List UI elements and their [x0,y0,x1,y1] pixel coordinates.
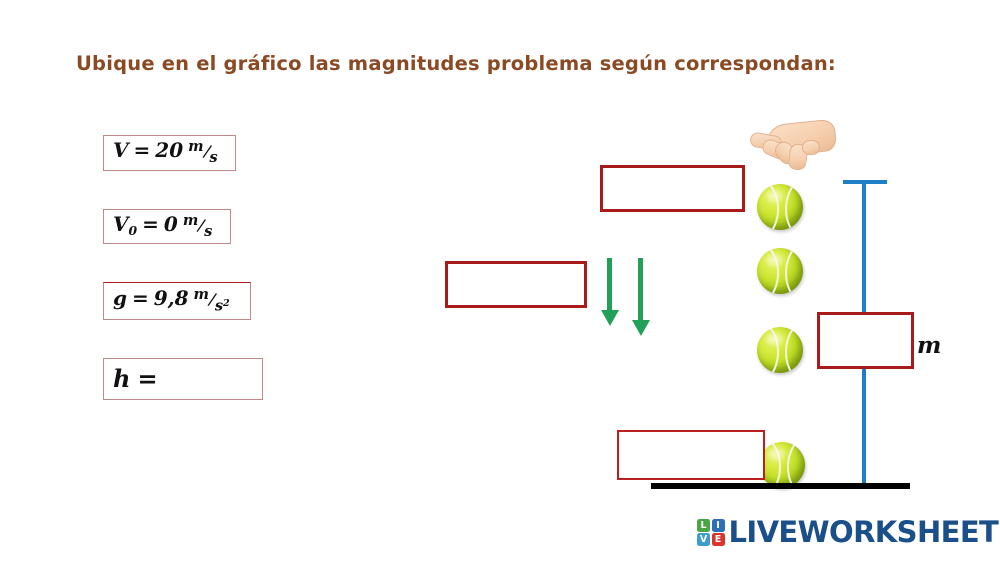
unit-numerator: m [194,288,209,303]
logo-cell-e: E [712,533,725,546]
formula-initial-velocity-unit: m/s [183,214,213,240]
formula-gravity-unit: m/s2 [194,288,230,314]
unit-denominator: s [204,225,212,240]
arrow-shaft [607,258,612,310]
formula-velocity-equals: = [134,138,151,162]
formula-gravity-symbol: g [113,286,127,310]
formula-initial-velocity-symbol: V [113,212,129,236]
unit-denominator-base: s [215,297,223,314]
logo-cell-v: V [697,533,710,546]
answer-box-top[interactable] [600,165,745,212]
arrow-head [632,320,650,336]
answer-box-bottom[interactable] [617,430,765,480]
unit-exponent: 2 [223,298,230,309]
formula-gravity: g=9,8m/s2 [103,282,251,320]
hand-dropping-ball-icon [744,122,836,184]
formula-height: h= [103,358,263,400]
formula-initial-velocity-equals: = [142,212,159,236]
formula-gravity-text: g=9,8m/s2 [113,288,230,314]
ground-line-icon [651,483,910,489]
arrow-head [601,310,619,326]
tennis-ball-icon [757,184,803,230]
tennis-ball-icon [757,248,803,294]
formula-velocity-unit: m/s [188,140,218,166]
tennis-ball-icon [757,327,803,373]
ball-seam-right [785,327,803,373]
unit-denominator: s [209,151,217,166]
logo-blocks-icon: L I V E [697,519,725,547]
formula-velocity: V=20m/s [103,135,236,171]
unit-numerator: m [188,140,203,155]
formula-initial-velocity-value: 0 [164,212,178,236]
ball-seam-right [785,184,803,230]
worksheet-page: Ubique en el gráfico las magnitudes prob… [0,0,1000,562]
ball-highlight [766,190,783,202]
ball-seam-right [785,248,803,294]
formula-initial-velocity-subscript: 0 [129,223,138,238]
logo-cell-i: I [712,519,725,532]
formula-velocity-text: V=20m/s [113,140,218,166]
formula-height-symbol: h [113,364,130,393]
ball-highlight [766,333,783,345]
ball-highlight [768,448,785,460]
formula-height-text: h= [113,367,158,391]
unit-denominator: s2 [215,299,230,314]
arrow-down-icon [632,258,650,336]
answer-box-mass[interactable] [817,312,914,369]
formula-gravity-equals: = [132,286,149,310]
ball-seam-right [787,442,805,488]
liveworksheets-logo: L I V E LIVEWORKSHEETS [697,518,1000,547]
hand-finger-5 [801,139,820,155]
formula-initial-velocity: V0=0m/s [103,209,231,244]
answer-box-middle-left[interactable] [445,261,587,308]
formula-gravity-value: 9,8 [154,286,189,310]
logo-wordmark: LIVEWORKSHEETS [729,518,1000,547]
logo-cell-l: L [697,519,710,532]
mass-label: m [917,332,941,359]
formula-height-equals: = [137,364,157,393]
page-title: Ubique en el gráfico las magnitudes prob… [76,52,836,75]
tennis-ball-icon [759,442,805,488]
formula-velocity-value: 20 [155,138,183,162]
arrow-shaft [638,258,643,320]
ball-highlight [766,254,783,266]
formula-initial-velocity-text: V0=0m/s [113,214,212,240]
unit-numerator: m [183,214,198,229]
formula-velocity-symbol: V [113,138,129,162]
arrow-down-icon [601,258,619,326]
